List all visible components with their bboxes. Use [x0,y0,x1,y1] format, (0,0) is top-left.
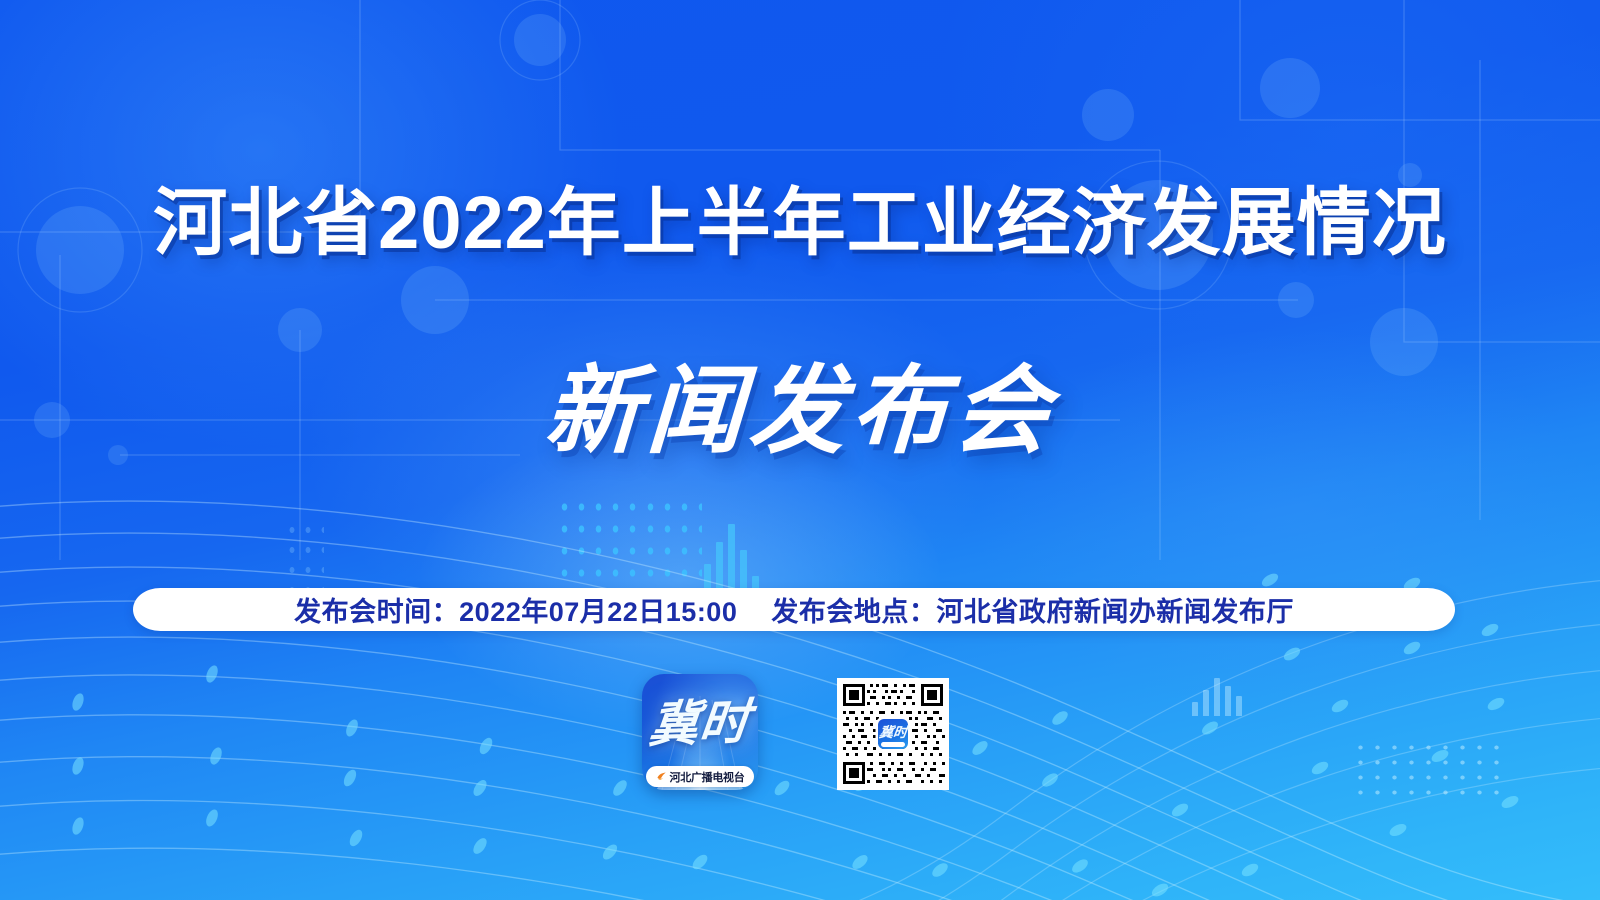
flame-swoosh-icon [656,771,667,782]
page-subtitle: 新闻发布会 [542,358,1058,466]
event-place-text: 发布会地点：河北省政府新闻办新闻发布厅 [771,590,1294,629]
logo-caption-bar: 河北广播电视台 [646,766,754,787]
network-decoration [0,0,1600,560]
logo-caption-text: 河北广播电视台 [670,769,745,785]
qr-center-logo: 冀时 [878,719,908,749]
event-info-bar: 发布会时间：2022年07月22日15:00 发布会地点：河北省政府新闻办新闻发… [133,588,1455,631]
qr-code-block[interactable]: 冀时 [826,676,960,792]
poster-canvas: 河北省2022年上半年工业经济发展情况 新闻发布会 发布会时间：2022年07月… [0,0,1600,900]
event-time-text: 发布会时间：2022年07月22日15:00 [294,590,737,629]
qr-code-canvas: 冀时 [837,678,949,790]
qr-center-caption-bar [881,742,905,747]
broadcaster-logo[interactable]: 冀时 河北广播电视台 [642,674,758,790]
qr-center-wordmark: 冀时 [878,727,908,741]
logo-tile-background: 冀时 河北广播电视台 [642,674,758,790]
logo-wordmark: 冀时 [642,682,758,757]
subtitle-container: 新闻发布会 [0,358,1600,466]
title-container: 河北省2022年上半年工业经济发展情况 [0,186,1600,260]
page-title: 河北省2022年上半年工业经济发展情况 [0,186,1600,260]
